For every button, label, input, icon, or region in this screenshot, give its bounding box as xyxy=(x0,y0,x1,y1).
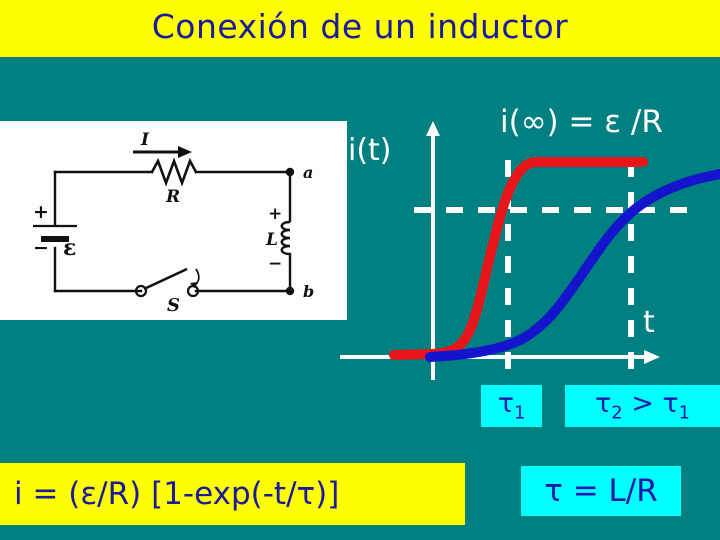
battery-minus-label: − xyxy=(33,237,49,259)
y-axis xyxy=(426,121,440,380)
tau1-badge: τ1 xyxy=(481,385,542,427)
tau-compare-badge: τ2 > τ1 xyxy=(565,385,720,427)
node-b-dot xyxy=(286,287,294,295)
tau-compare-label: τ2 > τ1 xyxy=(595,388,690,423)
inductor-plus-label: + xyxy=(268,204,282,224)
tau-definition-badge: τ = L/R xyxy=(521,466,681,516)
current-formula: i = (ε/R) [1-exp(-t/τ)] xyxy=(0,476,339,512)
slide-root: Conexión de un inductor xyxy=(0,0,720,540)
switch-symbol xyxy=(136,269,199,296)
circuit-label-switch: S xyxy=(167,295,180,316)
circuit-label-current: I xyxy=(140,130,150,150)
tau-definition-label: τ = L/R xyxy=(544,473,658,509)
asymptote-label: i(∞) = ε /R xyxy=(500,104,663,140)
circuit-svg: I R L ε S a b + − + − xyxy=(0,121,347,320)
y-axis-label: i(t) xyxy=(348,134,392,168)
title-bar: Conexión de un inductor xyxy=(0,0,720,57)
inductor-symbol xyxy=(282,222,290,254)
x-axis xyxy=(340,350,660,364)
rl-circuit-diagram: I R L ε S a b + − + − xyxy=(0,121,347,320)
x-axis-label: t xyxy=(643,306,655,340)
page-title: Conexión de un inductor xyxy=(0,2,720,52)
circuit-label-resistor: R xyxy=(165,187,180,207)
node-a-dot xyxy=(286,168,294,176)
tau1-label: τ1 xyxy=(498,388,526,423)
formula-bar: i = (ε/R) [1-exp(-t/τ)] xyxy=(0,463,465,525)
curve-tau1 xyxy=(394,162,643,355)
circuit-label-node-b: b xyxy=(303,282,314,301)
circuit-label-emf: ε xyxy=(63,235,76,261)
inductor-minus-label: − xyxy=(268,254,282,274)
circuit-label-node-a: a xyxy=(303,163,313,182)
battery-plus-label: + xyxy=(33,201,49,223)
circuit-label-inductor: L xyxy=(265,230,278,250)
curve-tau2 xyxy=(430,174,720,357)
